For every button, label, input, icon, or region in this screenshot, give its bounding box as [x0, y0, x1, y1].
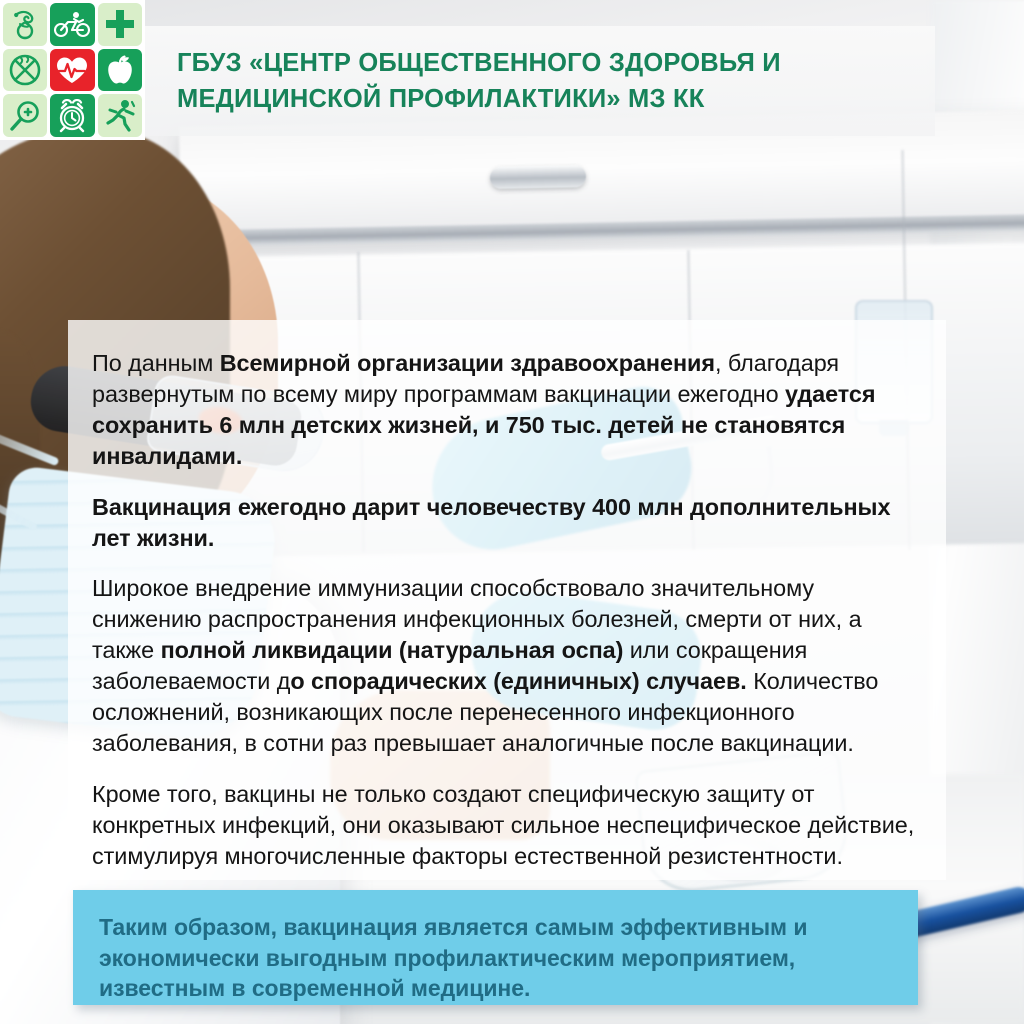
organization-logo-grid — [0, 0, 145, 140]
bowl-of-hygieia-icon — [3, 3, 47, 46]
paragraph-extra-life-years: Вакцинация ежегодно дарит человечеству 4… — [92, 492, 920, 554]
alarm-clock-icon — [50, 94, 94, 137]
apple-icon — [98, 49, 142, 92]
running-person-icon — [98, 94, 142, 137]
no-smoking-icon — [3, 49, 47, 92]
paragraph-who-statistics: По данным Всемирной организации здравоох… — [92, 348, 920, 473]
heart-pulse-icon — [50, 49, 94, 92]
conclusion-callout: Таким образом, вакцинация является самым… — [73, 890, 918, 1005]
header-banner: ГБУЗ «ЦЕНТР ОБЩЕСТВЕННОГО ЗДОРОВЬЯ И МЕД… — [145, 26, 935, 136]
paragraph-nonspecific-protection: Кроме того, вакцины не только создают сп… — [92, 779, 920, 872]
magnifier-plus-icon — [3, 94, 47, 137]
cyclist-icon — [50, 3, 94, 46]
page-title: ГБУЗ «ЦЕНТР ОБЩЕСТВЕННОГО ЗДОРОВЬЯ И МЕД… — [145, 45, 781, 117]
infographic-poster: ГБУЗ «ЦЕНТР ОБЩЕСТВЕННОГО ЗДОРОВЬЯ И МЕД… — [0, 0, 1024, 1024]
paragraph-immunization-impact: Широкое внедрение иммунизации способство… — [92, 573, 920, 760]
body-text-panel: По данным Всемирной организации здравоох… — [68, 320, 946, 880]
conclusion-text: Таким образом, вакцинация является самым… — [99, 912, 892, 1004]
medical-cross-icon — [98, 3, 142, 46]
cabinet-handle — [490, 165, 586, 189]
